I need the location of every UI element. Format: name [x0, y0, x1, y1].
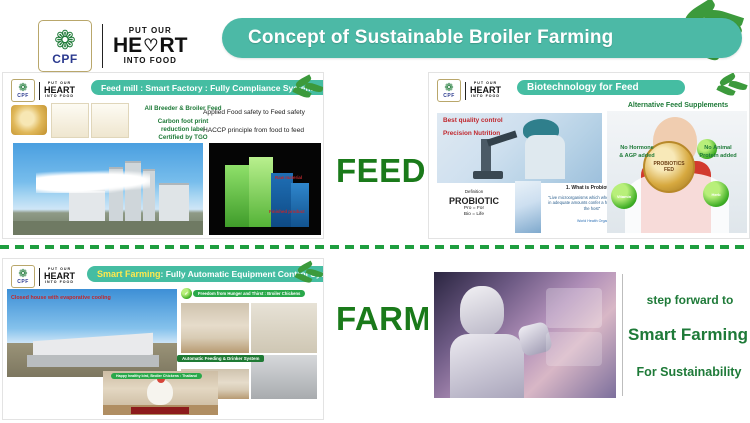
- brand-divider: [465, 82, 466, 100]
- chart-bar-back: [271, 173, 293, 227]
- slide-title-banner: Concept of Sustainable Broiler Farming: [222, 18, 742, 58]
- bullet-best-quality-control: Best quality control: [443, 117, 503, 126]
- chart-label-raw-material: Raw material: [275, 175, 302, 181]
- welfare-label: Happy healthy bird, Broiler Chickens : T…: [111, 373, 202, 379]
- chart-bar-mid: [249, 157, 273, 227]
- carbon-footprint-medal-2: [51, 103, 89, 138]
- probiotic-bio-line: Bio = Life: [435, 212, 513, 218]
- tagline-he: HE: [113, 35, 142, 57]
- robot-smart-farming-photo: [434, 272, 616, 398]
- bullet-precision-nutrition: Precision Nutrition: [443, 130, 500, 139]
- section-divider: [0, 245, 750, 249]
- tagline-bottom-line: INTO FOOD: [45, 95, 74, 99]
- cpf-logo-word: CPF: [443, 94, 455, 99]
- cpf-wheat-icon: ❁: [18, 269, 27, 280]
- leaf-decoration-biotech: [715, 75, 749, 99]
- brand-divider: [39, 82, 40, 100]
- feed-process-chart-photo: Raw material Finished product: [209, 143, 321, 235]
- automatic-feeding-label: Automatic Feeding & Drinker System: [177, 355, 264, 362]
- carbon-footprint-medal-3: [91, 103, 129, 138]
- feed-mill-panel: ❁ CPF PUT OUR HEART INTO FOOD Feed mill …: [2, 72, 324, 239]
- chart-label-finished-product: Finished product: [269, 209, 305, 215]
- seal-line-2: FED: [664, 167, 674, 173]
- smart-farming-subtitle-pill: Smart Farming : Fully Automatic Equipmen…: [87, 266, 324, 282]
- cpf-wheat-icon: ❁: [18, 83, 27, 94]
- feed-mill-subtitle-text: Feed mill : Smart Factory : Fully Compli…: [101, 83, 313, 93]
- biotechnology-subtitle-pill: Biotechnology for Feed: [517, 80, 685, 95]
- feed-section-label: FEED: [336, 152, 426, 190]
- feed-mill-subtitle-pill: Feed mill : Smart Factory : Fully Compli…: [91, 80, 324, 95]
- biotech-brand-lockup: ❁ CPF PUT OUR HEART INTO FOOD: [437, 79, 501, 102]
- step-forward-line-2: Smart Farming: [628, 324, 748, 347]
- slide-header: ❁ CPF PUT OUR HE ♡ RT INTO FOOD Concept …: [0, 0, 750, 70]
- broiler-welfare-photo: Happy healthy bird, Broiler Chickens : T…: [103, 371, 218, 415]
- cpf-brand-lockup: ❁ CPF PUT OUR HE ♡ RT INTO FOOD: [38, 20, 187, 72]
- cpf-logo-word: CPF: [17, 94, 29, 99]
- cpf-logo-word: CPF: [52, 53, 78, 65]
- step-forward-panel: step forward to Smart Farming For Sustai…: [428, 268, 748, 402]
- vitamin-bubble-label: Vitamin: [617, 194, 631, 199]
- feeder-photo-1: [181, 303, 249, 353]
- closed-house-photo: [7, 289, 177, 377]
- microbe-photo: [515, 181, 541, 233]
- claim-no-animal-protein: No Animal Protein added: [691, 145, 745, 160]
- farm-section-label: FARM: [336, 300, 432, 338]
- vitamin-bubble-icon: Vitamin: [611, 183, 637, 209]
- cpf-logo-badge: ❁ CPF: [38, 20, 92, 72]
- tagline-middle-line: HE ♡ RT: [113, 35, 187, 57]
- smart-farming-highlight: Smart Farming: [97, 269, 161, 279]
- freedom-label: Freedom from Hunger and Thirst : Broiler…: [193, 290, 305, 297]
- alternative-supplements-photo: PROBIOTICS FED Vitamin Herb No Hormone &…: [607, 111, 747, 233]
- tagline-rt: RT: [159, 35, 187, 57]
- put-our-heart-into-food-small: PUT OUR HEART INTO FOOD: [44, 82, 75, 99]
- tagline-bottom-line: INTO FOOD: [471, 95, 500, 99]
- panel-vertical-separator: [622, 274, 623, 396]
- cpf-wheat-icon: ❁: [444, 83, 453, 94]
- chart-bar-front: [225, 165, 251, 227]
- closed-house-label: Closed house with evaporative cooling: [11, 295, 111, 301]
- feed-note-food-safety: Applied Food safety to Feed safety: [203, 109, 323, 118]
- tagline-bottom-line: INTO FOOD: [124, 57, 177, 65]
- brand-divider: [39, 268, 40, 286]
- put-our-heart-into-food-small: PUT OUR HEART INTO FOOD: [44, 268, 75, 285]
- step-forward-line-3: For Sustainability: [630, 364, 748, 381]
- cpf-logo-badge-small: ❁ CPF: [11, 79, 35, 102]
- chart-bar-back-2: [291, 183, 309, 227]
- herb-bubble-icon: Herb: [703, 181, 729, 207]
- tagline-bottom-line: INTO FOOD: [45, 281, 74, 285]
- slide-root: ❁ CPF PUT OUR HE ♡ RT INTO FOOD Concept …: [0, 0, 750, 423]
- freedom-check-icon: ✓: [181, 288, 192, 299]
- carbon-footprint-medal-1: [11, 105, 47, 135]
- biotechnology-panel: ❁ CPF PUT OUR HEART INTO FOOD Biotechnol…: [428, 72, 750, 239]
- step-forward-line-1: step forward to: [634, 292, 746, 308]
- supplements-title: Alternative Feed Supplements: [607, 101, 749, 110]
- welfare-bottom-bar: [131, 407, 189, 414]
- feed-mill-photo: [13, 143, 203, 235]
- cpf-logo-word: CPF: [17, 280, 29, 285]
- cpf-logo-badge-small: ❁ CPF: [11, 265, 35, 288]
- feed-mill-brand-lockup: ❁ CPF PUT OUR HEART INTO FOOD: [11, 79, 75, 102]
- herb-bubble-label: Herb: [711, 192, 720, 197]
- smart-farming-brand-lockup: ❁ CPF PUT OUR HEART INTO FOOD: [11, 265, 75, 288]
- heart-icon: ♡: [143, 37, 158, 55]
- page-title: Concept of Sustainable Broiler Farming: [248, 27, 613, 49]
- smart-farming-panel: ❁ CPF PUT OUR HEART INTO FOOD Smart Farm…: [2, 258, 324, 420]
- cpf-wheat-icon: ❁: [54, 27, 76, 53]
- brand-divider: [102, 24, 103, 68]
- smart-farming-subtitle-text: : Fully Automatic Equipment Control Syst…: [161, 269, 324, 279]
- put-our-heart-into-food: PUT OUR HE ♡ RT INTO FOOD: [113, 27, 187, 66]
- claim-no-hormone: No Hormone & AGP added: [611, 145, 663, 160]
- put-our-heart-into-food-small: PUT OUR HEART INTO FOOD: [470, 82, 501, 99]
- biotechnology-subtitle-text: Biotechnology for Feed: [527, 82, 639, 93]
- feed-note-haccp: HACCP principle from food to feed: [203, 127, 323, 136]
- feeder-photo-2: [251, 303, 317, 353]
- cpf-logo-badge-small: ❁ CPF: [437, 79, 461, 102]
